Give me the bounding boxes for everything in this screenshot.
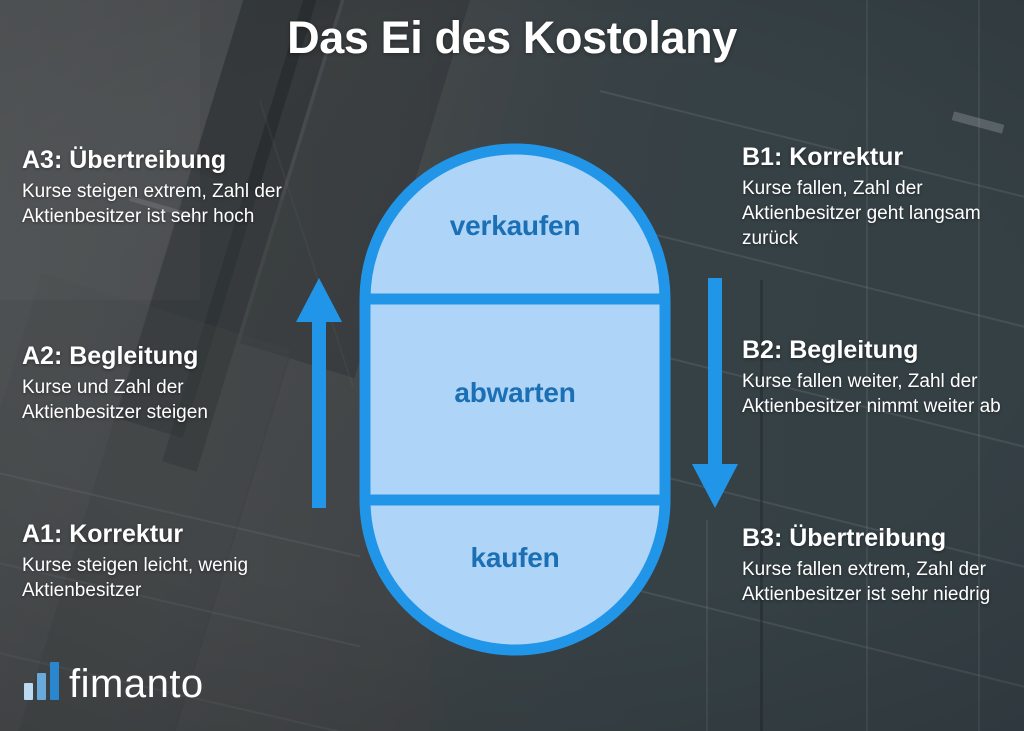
arrow-down-icon	[692, 278, 738, 513]
arrow-up-icon	[296, 278, 342, 513]
info-block-b1-body: Kurse fallen, Zahl der Aktienbesitzer ge…	[742, 176, 1004, 252]
info-block-b3-heading: B3: Übertreibung	[742, 524, 1004, 553]
info-block-a3: A3: Übertreibung Kurse steigen extrem, Z…	[22, 146, 284, 229]
info-block-a2: A2: Begleitung Kurse und Zahl der Aktien…	[22, 342, 284, 425]
info-block-b2: B2: Begleitung Kurse fallen weiter, Zahl…	[742, 336, 1004, 419]
egg-label-abwarten: abwarten	[358, 377, 672, 409]
info-block-a1: A1: Korrektur Kurse steigen leicht, weni…	[22, 520, 284, 603]
info-block-a2-heading: A2: Begleitung	[22, 342, 284, 371]
info-block-b1: B1: Korrektur Kurse fallen, Zahl der Akt…	[742, 143, 1004, 252]
logo-wordmark: fimanto	[69, 665, 204, 703]
info-block-a1-body: Kurse steigen leicht, wenig Aktienbesitz…	[22, 553, 284, 604]
info-block-b2-body: Kurse fallen weiter, Zahl der Aktienbesi…	[742, 369, 1004, 420]
info-block-a3-body: Kurse steigen extrem, Zahl der Aktienbes…	[22, 179, 284, 230]
page-title: Das Ei des Kostolany	[0, 12, 1024, 64]
egg-label-verkaufen: verkaufen	[358, 210, 672, 242]
kostolany-egg-diagram: verkaufen abwarten kaufen	[358, 142, 672, 657]
info-block-a2-body: Kurse und Zahl der Aktienbesitzer steige…	[22, 375, 284, 426]
fimanto-logo: fimanto	[24, 662, 204, 703]
info-block-b2-heading: B2: Begleitung	[742, 336, 1004, 365]
egg-label-kaufen: kaufen	[358, 542, 672, 574]
info-block-a3-heading: A3: Übertreibung	[22, 146, 284, 175]
info-block-b3-body: Kurse fallen extrem, Zahl der Aktienbesi…	[742, 557, 1004, 608]
bar-chart-icon	[24, 662, 59, 700]
info-block-b3: B3: Übertreibung Kurse fallen extrem, Za…	[742, 524, 1004, 607]
info-block-b1-heading: B1: Korrektur	[742, 143, 1004, 172]
info-block-a1-heading: A1: Korrektur	[22, 520, 284, 549]
